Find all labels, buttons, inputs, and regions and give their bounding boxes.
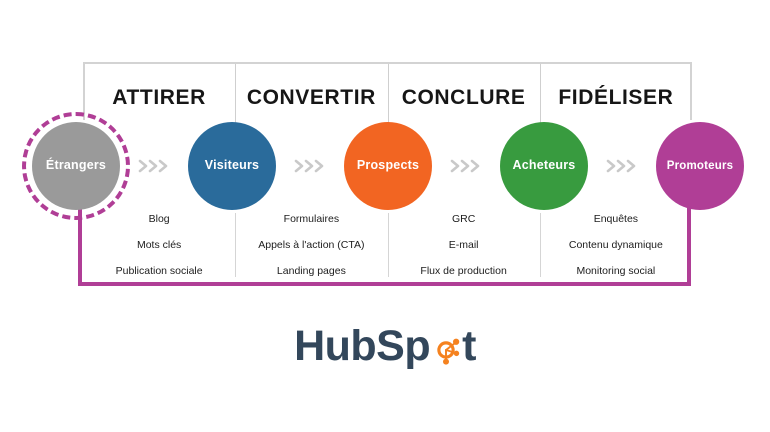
diagram-canvas: ATTIRER CONVERTIR CONCLURE FIDÉLISER Étr… [0,0,770,432]
hubspot-sprocket-icon [431,335,461,365]
tactic-item: Appels à l'action (CTA) [258,240,364,251]
tactics-column-conclure: GRC E-mail Flux de production [388,213,540,277]
logo-text-before: HubSp [294,322,430,371]
tactics-row: Blog Mots clés Publication sociale Formu… [83,213,692,277]
node-label-promoteurs: Promoteurs [656,122,744,210]
tactic-item: Landing pages [277,266,346,277]
tactics-column-attirer: Blog Mots clés Publication sociale [83,213,235,277]
node-label-visiteurs: Visiteurs [188,122,276,210]
tactic-item: Formulaires [284,214,339,225]
hubspot-logo: HubSp t [0,318,770,374]
node-label-acheteurs: Acheteurs [500,122,588,210]
stage-header-convertir[interactable]: CONVERTIR [235,78,387,118]
node-etrangers[interactable]: Étrangers [30,120,122,212]
lifecycle-flow-row: Étrangers Visiteurs [30,118,746,214]
tactic-item: Mots clés [137,240,181,251]
node-promoteurs[interactable]: Promoteurs [654,120,746,212]
chevron-triple-icon-2 [288,158,332,174]
chevron-triple-icon-3 [444,158,488,174]
stage-header-row: ATTIRER CONVERTIR CONCLURE FIDÉLISER [83,78,692,118]
tactic-item: Blog [149,214,170,225]
node-acheteurs[interactable]: Acheteurs [498,120,590,212]
chevron-triple-icon-1 [132,158,176,174]
tactic-item: Publication sociale [116,266,203,277]
tactic-item: GRC [452,214,475,225]
tactic-item: Flux de production [420,266,506,277]
tactic-item: E-mail [449,240,479,251]
tactics-column-fideliser: Enquêtes Contenu dynamique Monitoring so… [540,213,692,277]
node-prospects[interactable]: Prospects [342,120,434,212]
stage-header-attirer[interactable]: ATTIRER [83,78,235,118]
tactic-item: Enquêtes [594,214,638,225]
tactic-item: Contenu dynamique [569,240,663,251]
node-label-prospects: Prospects [344,122,432,210]
node-visiteurs[interactable]: Visiteurs [186,120,278,212]
stage-header-conclure[interactable]: CONCLURE [388,78,540,118]
logo-text-after: t [462,322,476,371]
tactic-item: Monitoring social [576,266,655,277]
node-label-etrangers: Étrangers [32,122,120,210]
chevron-triple-icon-4 [600,158,644,174]
tactics-column-convertir: Formulaires Appels à l'action (CTA) Land… [235,213,387,277]
stage-header-fideliser[interactable]: FIDÉLISER [540,78,692,118]
